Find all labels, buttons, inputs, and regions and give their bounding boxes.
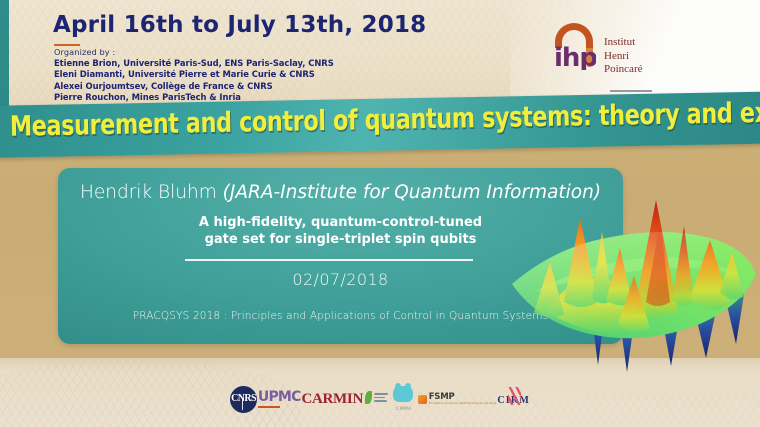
ihp-name-line-2: Henri [604,50,642,64]
pgsm-text-bars [374,393,388,404]
ihp-name-line-3: Poincaré [604,63,642,77]
cimpa-logo-label: CIMPA [391,407,417,412]
organized-by-label: Organized by : [54,47,334,57]
fsmp-logo-label: FSMP [429,393,497,402]
ihp-arch-icon: ihp [552,12,596,70]
organizers-block: Organized by : Etienne Brion, Université… [54,47,334,103]
sponsor-logo-item[interactable]: CIMPA [391,386,417,412]
ihp-underline-rule [610,90,652,92]
quantum-surface-plot-image [494,152,760,377]
speaker-name: Hendrik Bluhm [80,182,223,203]
organizer-item: Alexei Ourjoumtsev, Collège de France & … [54,81,334,92]
pgsm-logo [364,388,390,410]
cirm-slash-icon [508,387,521,405]
fsmp-wordmark: FSMP Fondation Sciences Mathématiques de… [429,393,497,405]
carmin-logo: CARMIN [301,392,363,407]
sponsor-logo-item[interactable]: CARMIN [301,392,363,407]
cimpa-logo: CIMPA [391,386,417,412]
sponsor-logo-item[interactable] [364,388,390,410]
orange-divider-rule [54,44,80,46]
fsmp-square-icon [418,395,427,404]
fsmp-logo-subtitle: Fondation Sciences Mathématiques de Pari… [429,402,497,405]
teal-edge-accent [0,0,9,113]
ihp-wordmark: Institut Henri Poincaré [604,36,642,77]
cnrs-logo: CNRS [230,386,257,413]
organizer-item: Eleni Diamanti, Université Pierre et Mar… [54,69,334,80]
ihp-logo: ihp Institut Henri Poincaré [552,12,692,90]
sponsor-logo-item[interactable]: CIRM [497,391,530,407]
card-divider-rule [185,259,473,261]
sponsor-logo-item[interactable]: UPMC [258,390,301,409]
sponsor-logo-item[interactable]: FSMP Fondation Sciences Mathématiques de… [418,393,497,405]
fsmp-logo: FSMP Fondation Sciences Mathématiques de… [418,393,497,405]
sponsor-logo-bar: CNRS UPMC CARMIN CIMPA [230,383,530,415]
event-date-range: April 16th to July 13th, 2018 [53,12,426,38]
cimpa-mark-icon [393,386,413,402]
sponsor-logo-item[interactable]: CNRS [230,386,257,413]
svg-text:ihp: ihp [554,43,596,70]
cnrs-logo-label: CNRS [231,394,256,404]
organizer-item: Etienne Brion, Université Paris-Sud, ENS… [54,58,334,69]
pgsm-leaf-icon [365,391,372,404]
conference-poster: April 16th to July 13th, 2018 Organized … [0,0,760,427]
upmc-logo: UPMC [258,390,301,409]
ihp-name-line-1: Institut [604,36,642,50]
cirm-logo: CIRM [497,391,530,407]
